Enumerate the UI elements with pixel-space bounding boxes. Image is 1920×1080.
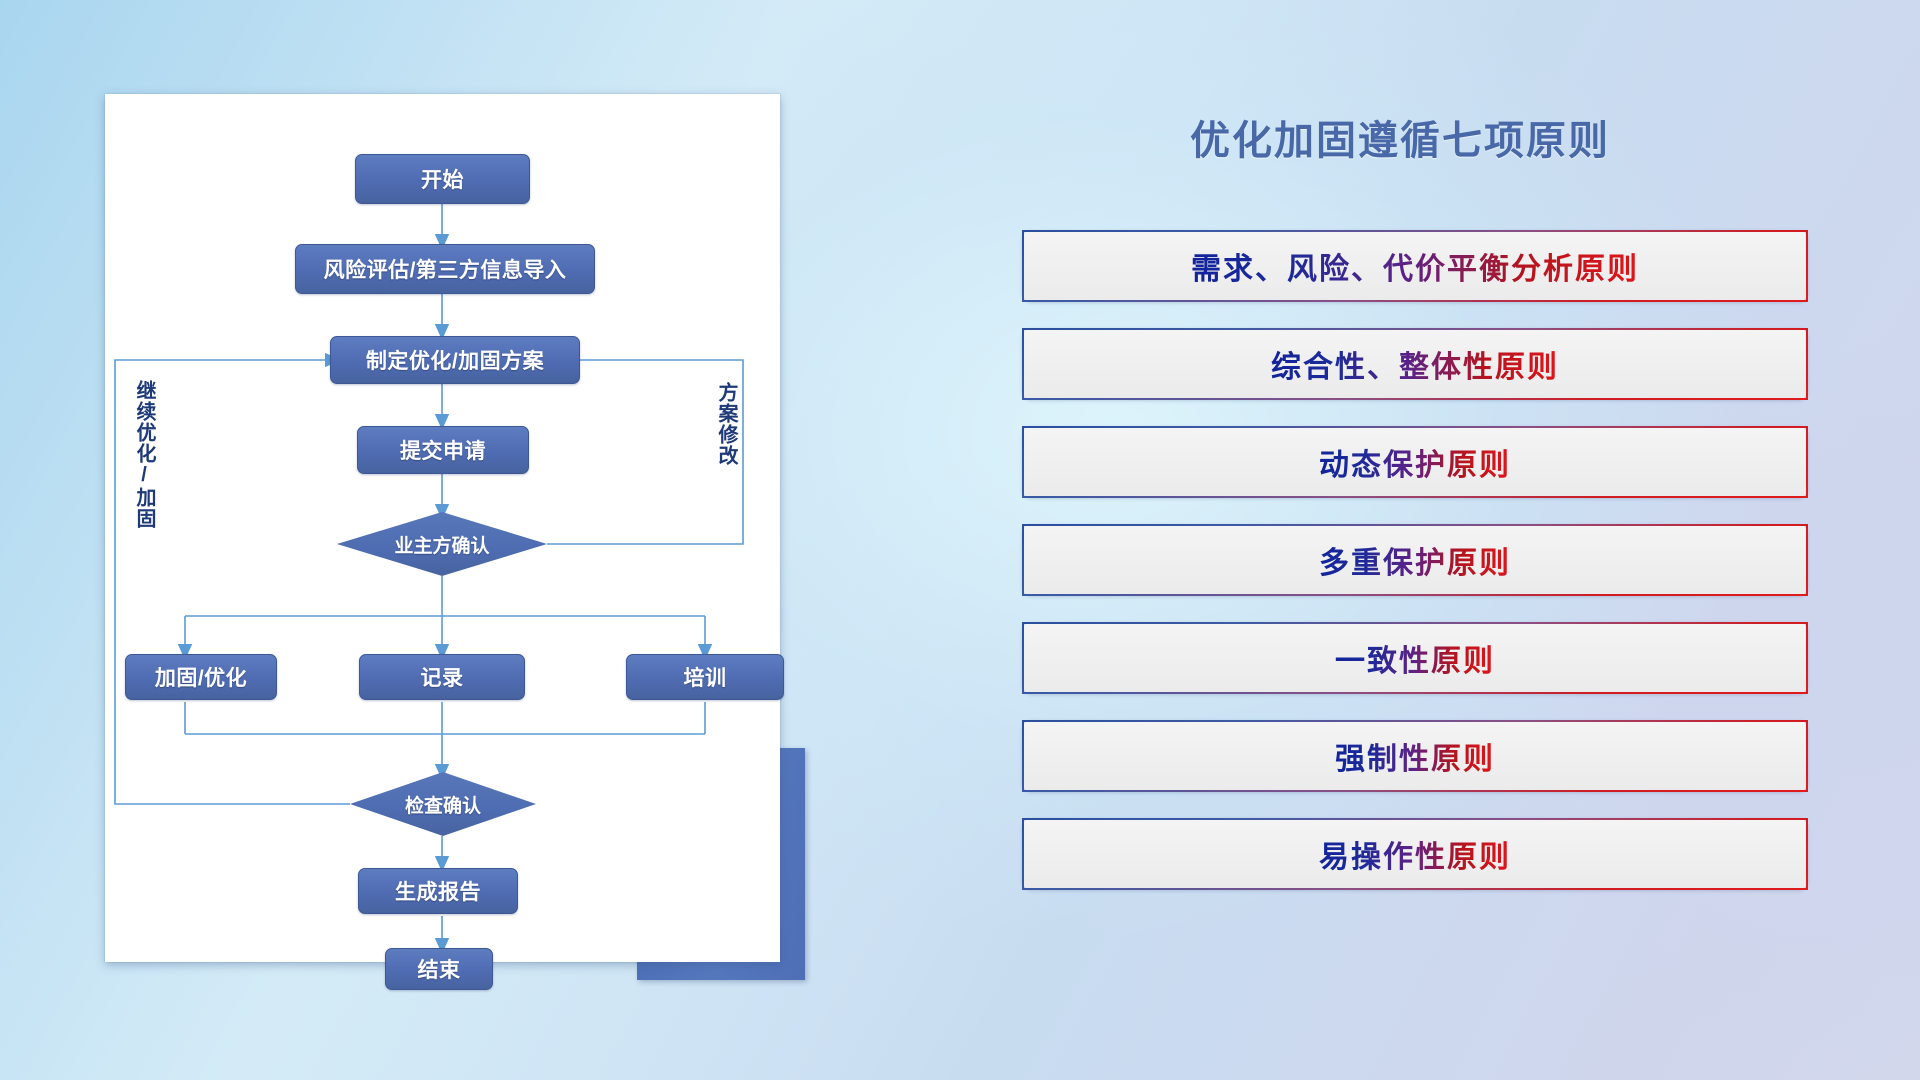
principle-label: 强制性原则 [1335, 734, 1495, 778]
flow-node-gen-report[interactable]: 生成报告 [358, 868, 518, 914]
flow-node-risk-assess[interactable]: 风险评估/第三方信息导入 [295, 244, 595, 294]
flow-node-label: 开始 [421, 164, 464, 194]
flow-node-label: 制定优化/加固方案 [366, 345, 544, 375]
principle-card[interactable]: 多重保护原则 [1022, 524, 1808, 596]
flowchart-card: 开始 风险评估/第三方信息导入 制定优化/加固方案 提交申请 业主方确认 加固/… [105, 94, 780, 962]
flow-node-label: 加固/优化 [155, 662, 247, 692]
flow-node-label: 培训 [684, 662, 727, 692]
principle-label: 动态保护原则 [1319, 440, 1511, 484]
flow-node-record[interactable]: 记录 [359, 654, 525, 700]
flow-node-label: 提交申请 [400, 435, 486, 465]
principle-label: 一致性原则 [1335, 636, 1495, 680]
flow-node-end[interactable]: 结束 [385, 948, 493, 990]
flow-label-right-loop: 方案修改 [715, 382, 736, 466]
principle-card[interactable]: 动态保护原则 [1022, 426, 1808, 498]
flowchart: 开始 风险评估/第三方信息导入 制定优化/加固方案 提交申请 业主方确认 加固/… [105, 94, 780, 962]
principles-list: 需求、风险、代价平衡分析原则 综合性、整体性原则 动态保护原则 多重保护原则 一… [1022, 230, 1808, 916]
principle-card[interactable]: 综合性、整体性原则 [1022, 328, 1808, 400]
flow-node-label: 记录 [421, 662, 464, 692]
principle-card[interactable]: 需求、风险、代价平衡分析原则 [1022, 230, 1808, 302]
flow-node-label: 结束 [418, 954, 461, 984]
principle-label: 多重保护原则 [1319, 538, 1511, 582]
flow-node-label: 业主方确认 [394, 531, 489, 558]
flow-label-left-loop: 继续优化/加固 [133, 380, 154, 529]
flow-node-label: 检查确认 [405, 791, 481, 818]
principle-card[interactable]: 易操作性原则 [1022, 818, 1808, 890]
flow-node-reinforce[interactable]: 加固/优化 [125, 654, 277, 700]
flow-node-start[interactable]: 开始 [355, 154, 530, 204]
flow-node-make-plan[interactable]: 制定优化/加固方案 [330, 336, 580, 384]
panel-title: 优化加固遵循七项原则 [1020, 108, 1780, 166]
flow-node-training[interactable]: 培训 [626, 654, 784, 700]
principle-label: 需求、风险、代价平衡分析原则 [1191, 244, 1639, 288]
principle-label: 易操作性原则 [1319, 832, 1511, 876]
principle-card[interactable]: 一致性原则 [1022, 622, 1808, 694]
principle-label: 综合性、整体性原则 [1271, 342, 1559, 386]
flow-node-label: 生成报告 [395, 876, 481, 906]
flow-node-label: 风险评估/第三方信息导入 [324, 254, 567, 284]
principle-card[interactable]: 强制性原则 [1022, 720, 1808, 792]
flow-node-submit[interactable]: 提交申请 [357, 426, 529, 474]
